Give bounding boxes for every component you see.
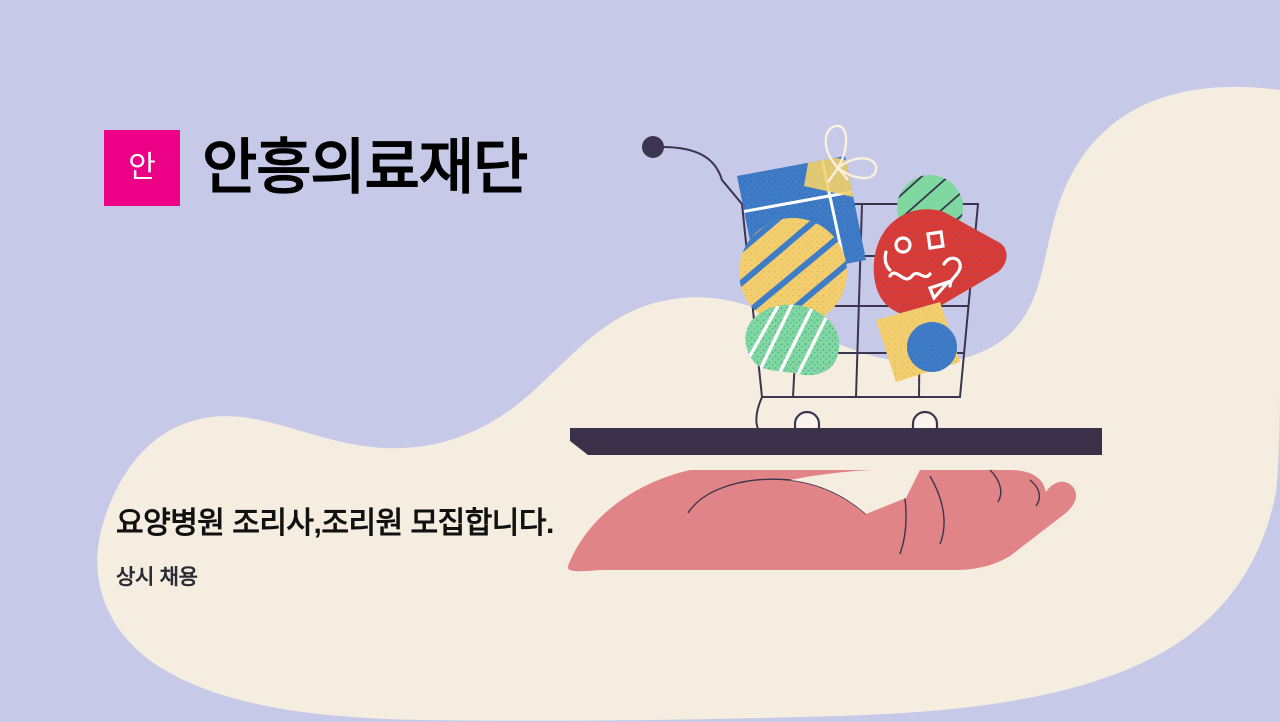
shopping-cart-illustration [0,0,1280,722]
item-red-blue-rounded-box [762,200,817,275]
job-subline: 상시 채용 [116,565,756,590]
item-green-white-striped-blob [740,298,850,382]
item-red-memphis-box [874,209,1007,316]
cart-wheels [795,412,937,440]
job-copy-block: 요양병원 조리사,조리원 모집합니다. 상시 채용 [116,505,756,590]
item-yellow-orange-square [876,302,960,382]
company-header: 안 안흥의료재단 [104,130,527,206]
gift-ribbon-bow [826,126,876,182]
item-blue-gift-box [720,126,890,295]
item-green-striped-circle [890,160,968,256]
item-blue-circle [907,322,957,372]
item-yellow-striped-circle [720,200,855,340]
dark-tray-bar [570,428,1102,455]
job-posting-banner: 안 안흥의료재단 요양병원 조리사,조리원 모집합니다. 상시 채용 [0,0,1280,722]
company-name: 안흥의료재단 [202,138,527,198]
background-blob [0,0,1280,722]
shopping-cart-frame [642,136,978,442]
company-logo-letter: 안 [128,153,156,183]
company-logo-badge[interactable]: 안 [104,130,180,206]
cart-items [720,126,1007,382]
job-headline: 요양병원 조리사,조리원 모집합니다. [116,505,756,543]
